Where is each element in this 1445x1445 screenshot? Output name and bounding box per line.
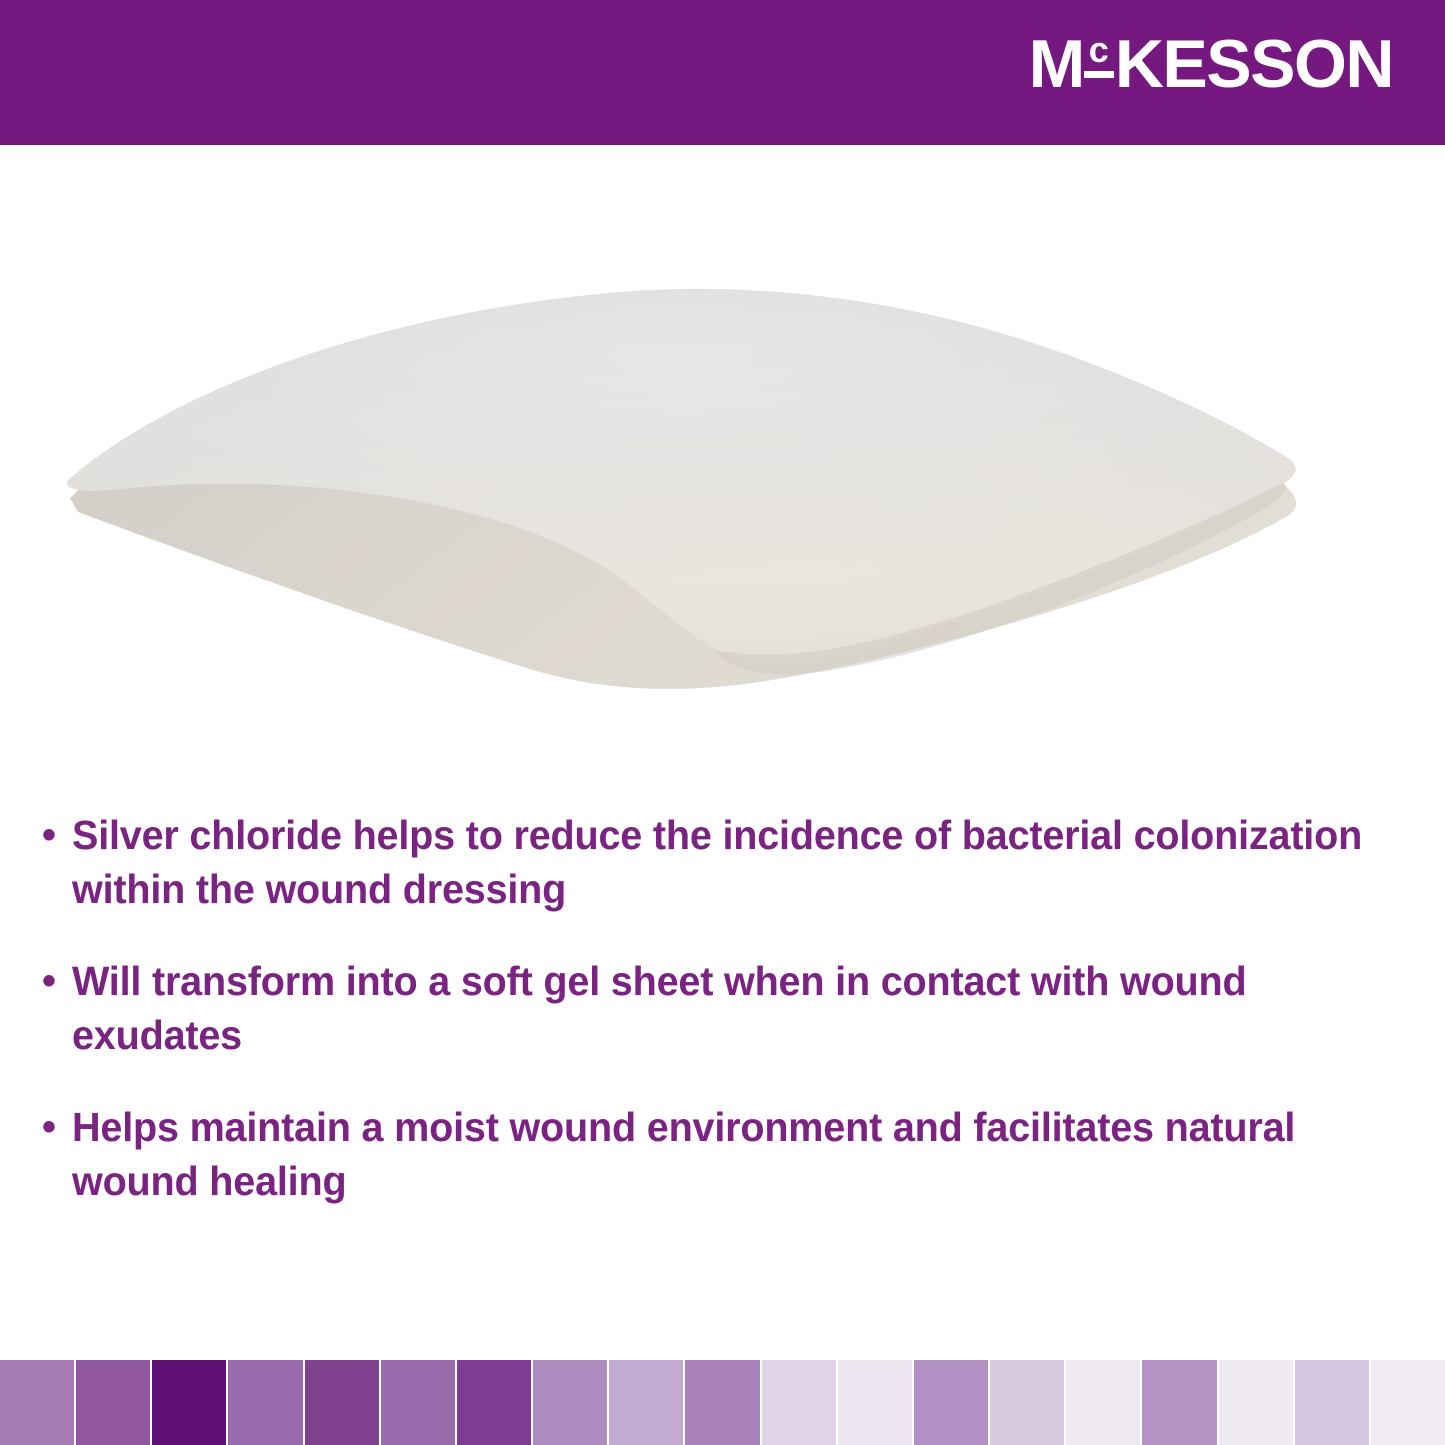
color-swatch [838,1360,914,1445]
color-swatch [76,1360,152,1445]
feature-list-item: • Helps maintain a moist wound environme… [38,1100,1423,1208]
color-swatch [305,1360,381,1445]
color-swatch [533,1360,609,1445]
mckesson-logo: M c KESSON [1029,30,1393,108]
color-swatch [228,1360,304,1445]
feature-text: Helps maintain a moist wound environment… [72,1100,1376,1208]
color-swatch [1219,1360,1295,1445]
logo-superscript-c: c [1089,32,1109,68]
feature-text: Will transform into a soft gel sheet whe… [72,954,1376,1062]
color-swatch [457,1360,533,1445]
color-swatch [1371,1360,1445,1445]
logo-suffix: KESSON [1115,30,1393,98]
logo-underline-rule [1084,71,1114,78]
feature-list-item: • Silver chloride helps to reduce the in… [38,808,1423,916]
color-swatch [1066,1360,1142,1445]
color-swatch [152,1360,228,1445]
bullet-marker: • [38,808,72,862]
color-swatch [685,1360,761,1445]
feature-list-item: • Will transform into a soft gel sheet w… [38,954,1423,1062]
pad-lighting-overlay [67,289,1296,662]
bullet-marker: • [38,1100,72,1154]
product-feature-card: M c KESSON [0,0,1445,1445]
color-swatch [381,1360,457,1445]
color-swatch-strip [0,1360,1445,1445]
logo-superscript-group: c [1084,32,1114,78]
logo-prefix: M [1029,30,1084,98]
color-swatch [990,1360,1066,1445]
color-swatch [1295,1360,1371,1445]
wound-dressing-pad-image [0,150,1445,790]
feature-list: • Silver chloride helps to reduce the in… [38,808,1423,1208]
header-band: M c KESSON [0,0,1445,145]
color-swatch [1142,1360,1218,1445]
color-swatch [609,1360,685,1445]
bullet-marker: • [38,954,72,1008]
color-swatch [914,1360,990,1445]
color-swatch [0,1360,76,1445]
color-swatch [762,1360,838,1445]
product-image-stage [0,150,1445,790]
feature-text: Silver chloride helps to reduce the inci… [72,808,1376,916]
